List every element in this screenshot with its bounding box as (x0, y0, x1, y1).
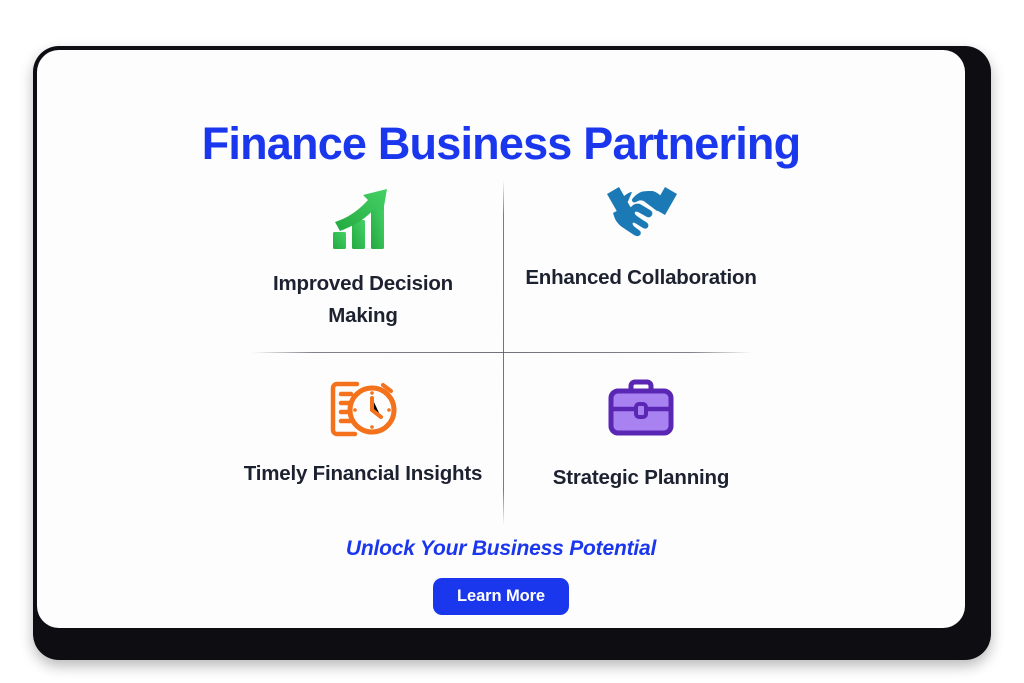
quadrant-grid: Improved Decision Making (227, 180, 777, 525)
handshake-icon (605, 180, 677, 248)
briefcase-icon (605, 378, 677, 446)
quadrant-strategic-planning[interactable]: Strategic Planning (505, 378, 777, 494)
stopwatch-document-icon (327, 378, 399, 446)
cta-container: Learn More (37, 578, 965, 615)
learn-more-button[interactable]: Learn More (433, 578, 569, 615)
vertical-divider (503, 180, 504, 525)
quadrant-label: Timely Financial Insights (244, 458, 482, 490)
quadrant-timely-financial-insights[interactable]: Timely Financial Insights (227, 378, 499, 490)
device-frame: Finance Business Partnering (33, 46, 991, 660)
device-screen: Finance Business Partnering (37, 50, 965, 628)
page-title: Finance Business Partnering (37, 118, 965, 170)
quadrant-label: Enhanced Collaboration (525, 262, 756, 294)
presentation-slide: Finance Business Partnering (37, 50, 965, 628)
quadrant-label: Improved Decision Making (243, 268, 483, 332)
horizontal-divider (252, 352, 752, 353)
quadrant-label: Strategic Planning (553, 462, 729, 494)
quadrant-improved-decision-making[interactable]: Improved Decision Making (227, 188, 499, 332)
bar-chart-growth-arrow-icon (327, 188, 399, 256)
tagline: Unlock Your Business Potential (37, 537, 965, 561)
quadrant-enhanced-collaboration[interactable]: Enhanced Collaboration (505, 180, 777, 294)
